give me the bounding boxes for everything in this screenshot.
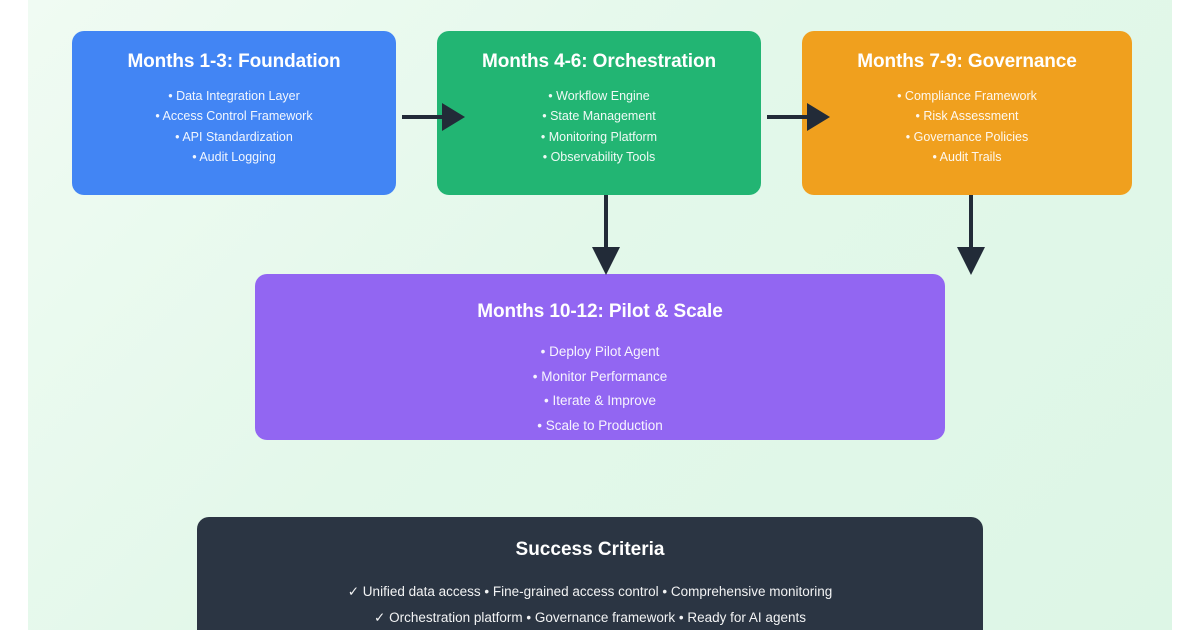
arrow-head — [957, 247, 985, 275]
arrow-right-icon-orchestration-to-governance — [767, 99, 830, 135]
phase-title-orchestration: Months 4-6: Orchestration — [437, 50, 761, 74]
arrow-down-icon-governance-to-pilot — [953, 195, 989, 275]
success-criteria-line: ✓ Orchestration platform • Governance fr… — [197, 605, 983, 630]
phase-title-pilot-and-scale: Months 10-12: Pilot & Scale — [255, 300, 945, 324]
arrow-down-icon-orchestration-to-pilot — [588, 195, 624, 275]
phase-card-pilot-and-scale[interactable]: Months 10-12: Pilot & Scale • Deploy Pil… — [255, 274, 945, 440]
phase-card-orchestration[interactable]: Months 4-6: Orchestration • Workflow Eng… — [437, 31, 761, 195]
diagram-stage: Months 1-3: Foundation • Data Integratio… — [28, 0, 1172, 630]
success-criteria-panel: Success Criteria ✓ Unified data access •… — [197, 517, 983, 630]
arrow-head — [442, 103, 465, 131]
phase-item: • Governance Policies — [802, 127, 1132, 147]
phase-item-list-foundation: • Data Integration Layer • Access Contro… — [72, 86, 396, 168]
phase-item: • Deploy Pilot Agent — [255, 340, 945, 365]
phase-title-foundation: Months 1-3: Foundation — [72, 50, 396, 74]
phase-item: • Workflow Engine — [437, 86, 761, 106]
arrow-right-icon-foundation-to-orchestration — [402, 99, 465, 135]
phase-item: • Risk Assessment — [802, 106, 1132, 126]
arrow-shaft — [767, 115, 809, 119]
success-criteria-line: ✓ Unified data access • Fine-grained acc… — [197, 579, 983, 605]
roadmap-diagram-canvas: Months 1-3: Foundation • Data Integratio… — [0, 0, 1200, 630]
phase-card-foundation[interactable]: Months 1-3: Foundation • Data Integratio… — [72, 31, 396, 195]
arrow-shaft — [604, 195, 608, 251]
phase-item: • Access Control Framework — [72, 106, 396, 126]
phase-item: • Monitoring Platform — [437, 127, 761, 147]
phase-item: • Audit Logging — [72, 147, 396, 167]
phase-item: • API Standardization — [72, 127, 396, 147]
phase-item: • Scale to Production — [255, 414, 945, 439]
phase-item: • Data Integration Layer — [72, 86, 396, 106]
success-criteria-title: Success Criteria — [197, 537, 983, 563]
arrow-head — [807, 103, 830, 131]
phase-item: • Compliance Framework — [802, 86, 1132, 106]
phase-item: • Iterate & Improve — [255, 389, 945, 414]
phase-item-list-orchestration: • Workflow Engine • State Management • M… — [437, 86, 761, 168]
arrow-shaft — [969, 195, 973, 251]
phase-item: • Observability Tools — [437, 147, 761, 167]
phase-item: • State Management — [437, 106, 761, 126]
arrow-head — [592, 247, 620, 275]
phase-item: • Audit Trails — [802, 147, 1132, 167]
phase-card-governance[interactable]: Months 7-9: Governance • Compliance Fram… — [802, 31, 1132, 195]
phase-item-list-governance: • Compliance Framework • Risk Assessment… — [802, 86, 1132, 168]
phase-item-list-pilot-and-scale: • Deploy Pilot Agent • Monitor Performan… — [255, 340, 945, 438]
phase-title-governance: Months 7-9: Governance — [802, 50, 1132, 74]
phase-item: • Monitor Performance — [255, 365, 945, 390]
arrow-shaft — [402, 115, 444, 119]
